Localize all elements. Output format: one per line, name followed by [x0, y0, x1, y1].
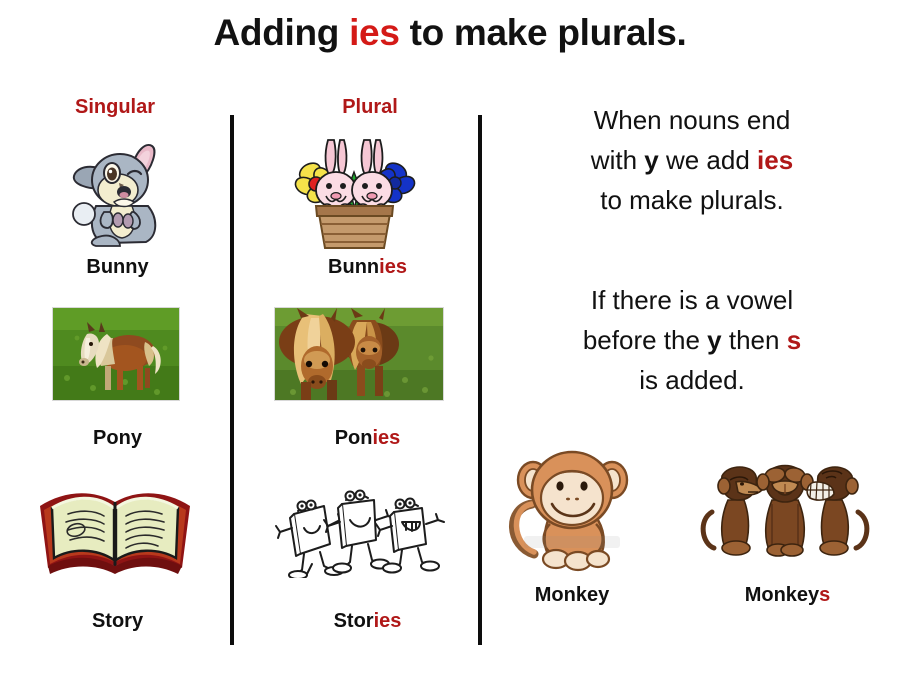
rule-ies-highlight-ies: ies [757, 145, 793, 175]
word-label-bunny: Bunny [40, 256, 195, 279]
word-label-monkey: Monkey [492, 584, 652, 607]
word-stem-bunn: Bunn [328, 256, 379, 278]
word-suffix-ies: ies [372, 427, 400, 449]
word-label-stories: Stories [285, 610, 450, 633]
rule-ies-line-2: with y we add ies [492, 140, 892, 180]
title-text-post: to make plurals. [400, 12, 687, 53]
word-suffix-s: s [819, 584, 830, 606]
title-highlight-ies: ies [349, 12, 400, 53]
word-label-pony: Pony [40, 427, 195, 450]
rule-s-line-3: is added. [492, 360, 892, 400]
page-title: Adding ies to make plurals. [0, 12, 900, 54]
column-header-singular: Singular [40, 96, 190, 119]
open-book-illustration [32, 468, 198, 580]
rule-ies-bold-y: y [644, 145, 658, 175]
word-label-story: Story [40, 610, 195, 633]
rule-ies-line2-pre: with [591, 145, 644, 175]
column-divider-left [230, 115, 234, 645]
three-wise-monkeys-illustration [700, 442, 875, 577]
word-label-monkeys: Monkeys [700, 584, 875, 607]
word-suffix-ies: ies [379, 256, 407, 278]
cartoon-books-illustration [268, 478, 448, 578]
rule-ies-line-1: When nouns end [492, 100, 892, 140]
column-header-plural: Plural [290, 96, 450, 119]
rule-s-line-1: If there is a vowel [492, 280, 892, 320]
rule-s-highlight-s: s [787, 325, 801, 355]
monkey-illustration [500, 442, 645, 577]
rule-ies-line2-mid: we add [659, 145, 757, 175]
ponies-photo [274, 307, 444, 401]
column-divider-right [478, 115, 482, 645]
rule-ies-line-3: to make plurals. [492, 180, 892, 220]
word-label-bunnies: Bunnies [285, 256, 450, 279]
rule-text-s: If there is a vowel before the y then s … [492, 280, 892, 400]
rule-s-bold-y: y [707, 325, 721, 355]
bunny-illustration [62, 128, 182, 248]
word-label-ponies: Ponies [285, 427, 450, 450]
word-stem-stor: Stor [334, 610, 374, 632]
rule-s-line2-mid: then [722, 325, 787, 355]
title-text-pre: Adding [213, 12, 349, 53]
bunnies-in-basket-illustration [292, 128, 417, 250]
rule-text-ies: When nouns end with y we add ies to make… [492, 100, 892, 220]
rule-s-line2-pre: before the [583, 325, 707, 355]
pony-photo [52, 307, 180, 401]
word-stem-pon: Pon [335, 427, 373, 449]
word-suffix-ies: ies [374, 610, 402, 632]
word-stem-monkey: Monkey [745, 584, 819, 606]
rule-s-line-2: before the y then s [492, 320, 892, 360]
